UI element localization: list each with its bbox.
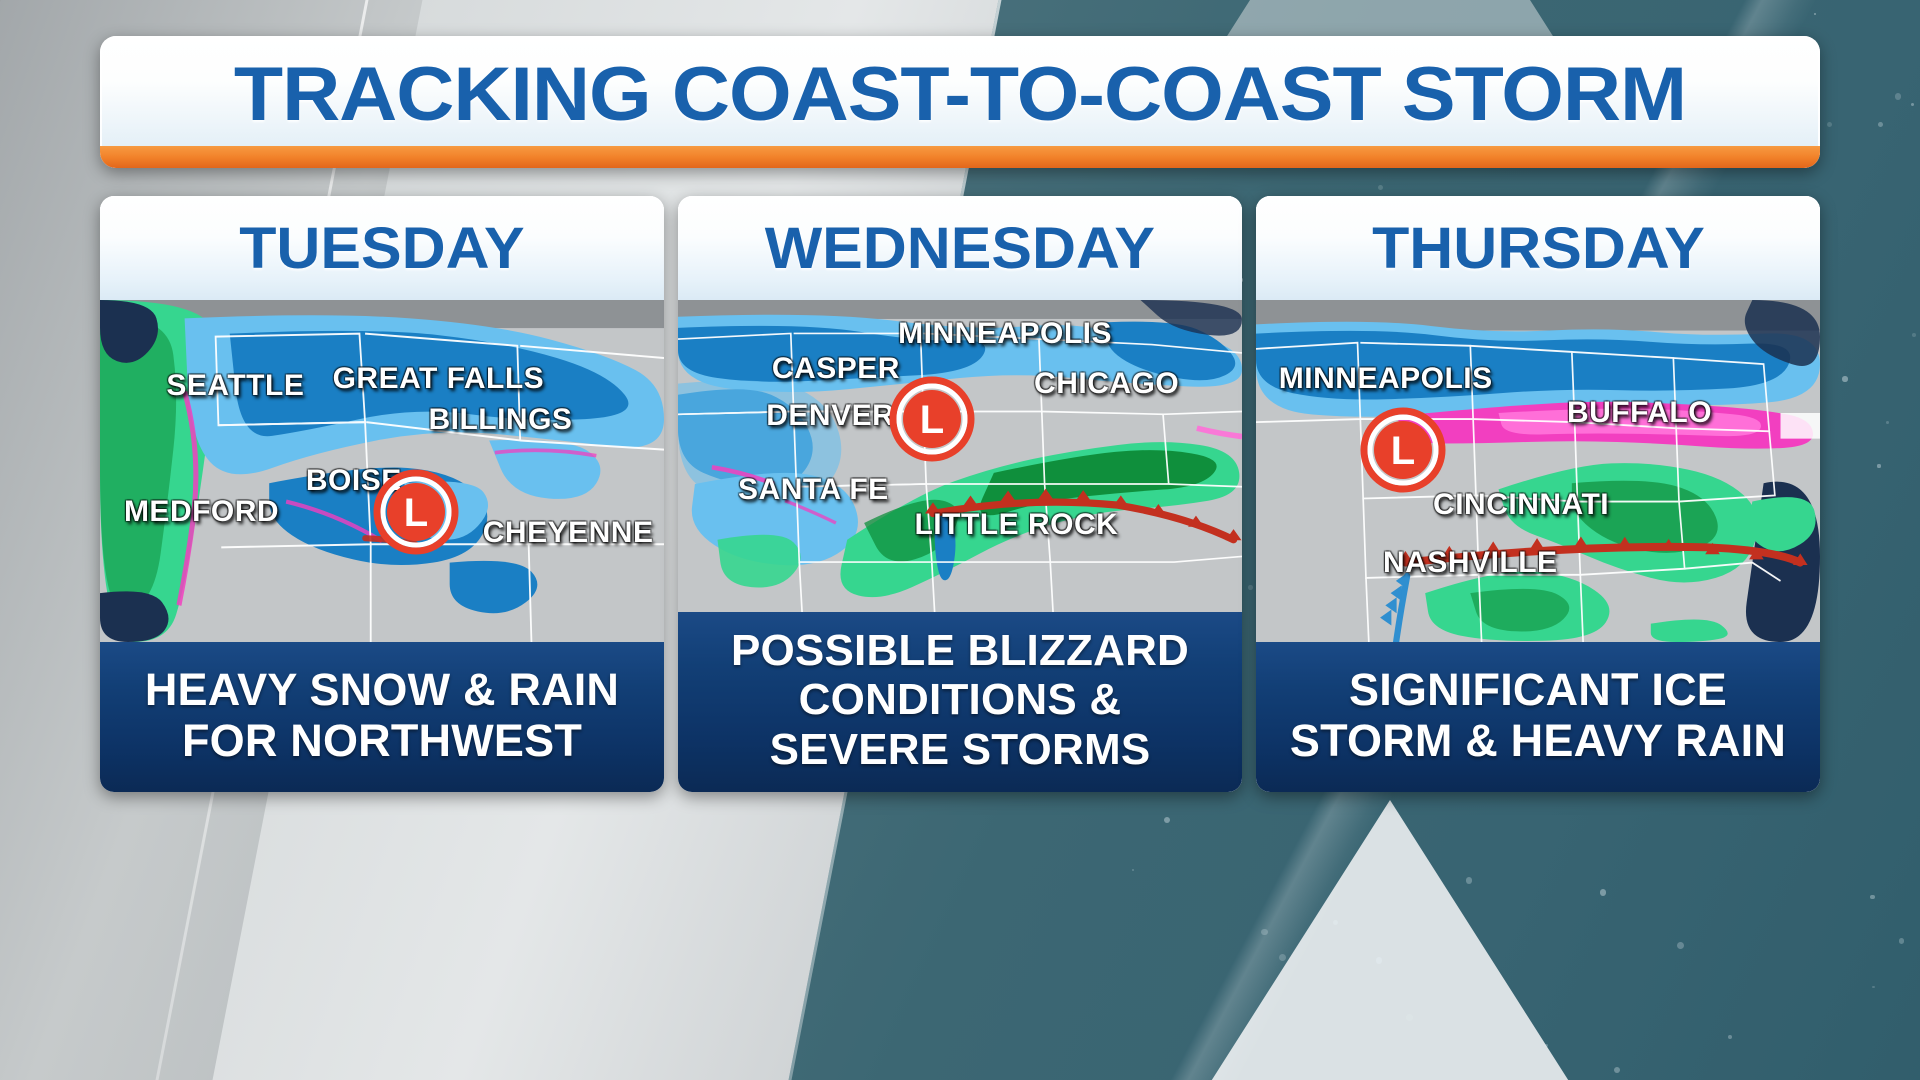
panel-header-wednesday: WEDNESDAY <box>678 196 1242 300</box>
day-label: WEDNESDAY <box>765 215 1155 282</box>
city-label-nashville: NASHVILLE <box>1383 546 1558 580</box>
city-label-santa-fe: SANTA FE <box>738 473 889 507</box>
forecast-panel-thursday: THURSDAY MINNEAPOLISBUFFALOCINCINNATINAS… <box>1256 196 1820 792</box>
panel-header-tuesday: TUESDAY <box>100 196 664 300</box>
city-label-seattle: SEATTLE <box>166 369 304 403</box>
city-label-buffalo: BUFFALO <box>1567 396 1712 430</box>
low-pressure-marker: L <box>889 376 975 462</box>
weather-map-thursday: MINNEAPOLISBUFFALOCINCINNATINASHVILLE L <box>1256 300 1820 642</box>
low-pressure-marker: L <box>1360 407 1446 493</box>
panel-caption-thursday: SIGNIFICANT ICESTORM & HEAVY RAIN <box>1256 642 1820 792</box>
city-label-great-falls: GREAT FALLS <box>333 362 545 396</box>
panel-caption-wednesday: POSSIBLE BLIZZARDCONDITIONS &SEVERE STOR… <box>678 612 1242 792</box>
panel-caption-tuesday: HEAVY SNOW & RAINFOR NORTHWEST <box>100 642 664 792</box>
city-label-cheyenne: CHEYENNE <box>483 516 654 550</box>
low-pressure-marker: L <box>373 469 459 555</box>
city-label-minneapolis: MINNEAPOLIS <box>898 317 1112 351</box>
caption-line: HEAVY SNOW & RAIN <box>145 664 619 715</box>
forecast-panel-wednesday: WEDNESDAY MINNEAPOLISCASPERCHICAGODENVER… <box>678 196 1242 792</box>
city-label-chicago: CHICAGO <box>1034 367 1179 401</box>
caption-line: CONDITIONS & <box>731 675 1189 724</box>
title-accent-bar <box>100 146 1820 168</box>
city-label-cincinnati: CINCINNATI <box>1433 488 1609 522</box>
city-label-denver: DENVER <box>766 399 894 433</box>
caption-line: SEVERE STORMS <box>731 725 1189 774</box>
city-label-casper: CASPER <box>772 352 900 386</box>
svg-text:L: L <box>404 491 428 535</box>
forecast-panel-row: TUESDAY SEATTLEGREAT FALLSBILLINGSBOISEM… <box>100 196 1820 792</box>
weather-map-wednesday: MINNEAPOLISCASPERCHICAGODENVERSANTA FELI… <box>678 300 1242 612</box>
caption-text: HEAVY SNOW & RAINFOR NORTHWEST <box>145 664 619 767</box>
page-title: TRACKING COAST-TO-COAST STORM <box>100 44 1820 144</box>
weather-map-tuesday: SEATTLEGREAT FALLSBILLINGSBOISEMEDFORDCH… <box>100 300 664 642</box>
title-bar: TRACKING COAST-TO-COAST STORM <box>100 36 1820 168</box>
city-label-little-rock: LITTLE ROCK <box>914 508 1118 542</box>
caption-line: POSSIBLE BLIZZARD <box>731 626 1189 675</box>
day-label: TUESDAY <box>239 215 524 282</box>
city-label-billings: BILLINGS <box>428 403 572 437</box>
panel-header-thursday: THURSDAY <box>1256 196 1820 300</box>
caption-text: POSSIBLE BLIZZARDCONDITIONS &SEVERE STOR… <box>731 626 1189 774</box>
caption-line: FOR NORTHWEST <box>145 715 619 766</box>
city-label-medford: MEDFORD <box>124 495 279 529</box>
svg-text:L: L <box>920 398 944 442</box>
graphic-shell: TRACKING COAST-TO-COAST STORM TUESDAY SE… <box>0 0 1920 1080</box>
caption-line: STORM & HEAVY RAIN <box>1290 715 1786 766</box>
forecast-panel-tuesday: TUESDAY SEATTLEGREAT FALLSBILLINGSBOISEM… <box>100 196 664 792</box>
day-label: THURSDAY <box>1372 215 1705 282</box>
caption-line: SIGNIFICANT ICE <box>1290 664 1786 715</box>
city-label-minneapolis: MINNEAPOLIS <box>1279 362 1493 396</box>
caption-text: SIGNIFICANT ICESTORM & HEAVY RAIN <box>1290 664 1786 767</box>
svg-text:L: L <box>1390 429 1414 473</box>
